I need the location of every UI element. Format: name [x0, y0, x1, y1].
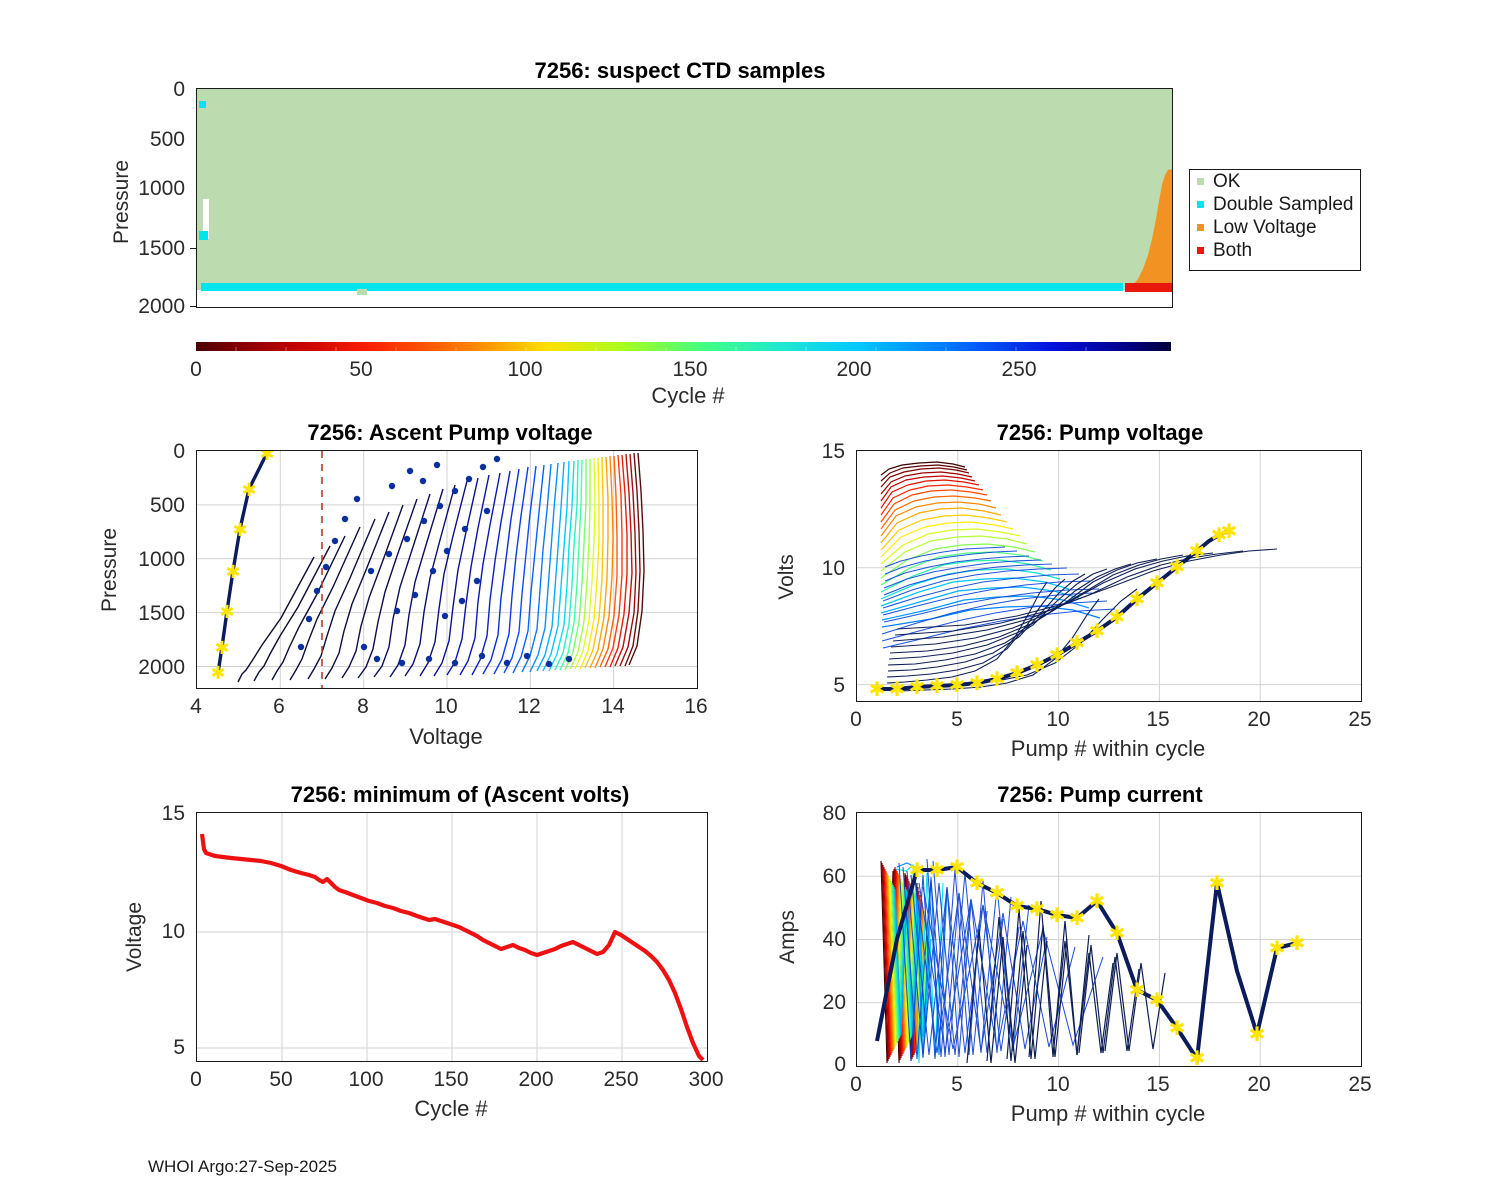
plot-area-suspect — [196, 88, 1173, 308]
minvolt-ytick-15: 15 — [130, 802, 185, 826]
svg-text:✱: ✱ — [241, 480, 256, 501]
ascent-xtick-12: 12 — [499, 695, 559, 719]
suspect-xlabel: Cycle # — [508, 383, 868, 409]
svg-text:✱: ✱ — [1209, 871, 1226, 895]
pumpcur-xtick-5: 5 — [927, 1073, 987, 1097]
ascent-ytick-0: 0 — [125, 440, 185, 464]
pumpvolt-xtick-25: 25 — [1330, 708, 1390, 732]
minvolt-xtick-100: 100 — [336, 1068, 396, 1092]
suspect-xtick-50: 50 — [331, 358, 391, 382]
pumpvolt-xtick-0: 0 — [826, 708, 886, 732]
svg-text:✱: ✱ — [869, 677, 886, 701]
svg-text:✱: ✱ — [225, 562, 240, 583]
minvolt-xtick-300: 300 — [676, 1068, 736, 1092]
svg-text:✱: ✱ — [219, 602, 234, 623]
legend-item-ok: OK — [1190, 170, 1360, 193]
ascent-xtick-14: 14 — [583, 695, 643, 719]
svg-text:✱: ✱ — [889, 677, 906, 701]
svg-text:✱: ✱ — [1069, 906, 1086, 930]
pumpcur-xtick-20: 20 — [1229, 1073, 1289, 1097]
svg-text:✱: ✱ — [1089, 619, 1106, 643]
svg-text:✱: ✱ — [1049, 903, 1066, 927]
ascent-xtick-6: 6 — [249, 695, 309, 719]
suspect-xtick-250: 250 — [989, 358, 1049, 382]
suspect-xtick-100: 100 — [495, 358, 555, 382]
svg-text:✱: ✱ — [1149, 571, 1166, 595]
svg-text:✱: ✱ — [1049, 643, 1066, 667]
ascent-xtick-10: 10 — [416, 695, 476, 719]
legend-marker-low-voltage — [1197, 224, 1204, 231]
ok-region — [197, 89, 1172, 290]
panel-title-pump-current: 7256: Pump current — [860, 782, 1340, 808]
minvolt-xtick-50: 50 — [251, 1068, 311, 1092]
svg-text:✱: ✱ — [1221, 519, 1238, 543]
plot-area-min-ascent-volts — [196, 812, 708, 1062]
legend-label-double-sampled: Double Sampled — [1213, 194, 1353, 216]
svg-text:✱: ✱ — [1029, 653, 1046, 677]
svg-text:✱: ✱ — [232, 520, 247, 541]
svg-text:✱: ✱ — [1129, 587, 1146, 611]
svg-text:✱: ✱ — [949, 673, 966, 697]
minvolt-xtick-0: 0 — [166, 1068, 226, 1092]
svg-text:✱: ✱ — [929, 858, 946, 882]
pumpcur-xtick-0: 0 — [826, 1073, 886, 1097]
svg-text:✱: ✱ — [1009, 661, 1026, 685]
ascent-xtick-16: 16 — [666, 695, 726, 719]
svg-text:✱: ✱ — [214, 638, 229, 659]
panel-title-ascent-pump-voltage: 7256: Ascent Pump voltage — [190, 420, 710, 446]
legend-item-both: Both — [1190, 239, 1360, 262]
svg-text:✱: ✱ — [1149, 988, 1166, 1012]
suspect-ytick-0: 0 — [125, 78, 185, 102]
cycle-colorbar-strip — [196, 340, 1171, 352]
pumpcur-xtick-10: 10 — [1028, 1073, 1088, 1097]
pumpvolt-ytick-5: 5 — [790, 674, 845, 698]
svg-text:✱: ✱ — [1029, 897, 1046, 921]
suspect-ytickmark-2000 — [190, 306, 196, 307]
svg-text:✱: ✱ — [1189, 1046, 1206, 1066]
legend-item-double-sampled: Double Sampled — [1190, 193, 1360, 216]
panel-title-min-ascent-volts: 7256: minimum of (Ascent volts) — [180, 782, 740, 808]
suspect-ytick-500: 500 — [125, 128, 185, 152]
minvolt-xtick-150: 150 — [421, 1068, 481, 1092]
svg-text:✱: ✱ — [1009, 894, 1026, 918]
svg-text:✱: ✱ — [1129, 978, 1146, 1002]
legend-item-low-voltage: Low Voltage — [1190, 216, 1360, 239]
svg-text:✱: ✱ — [210, 663, 225, 684]
pumpvolt-xtick-10: 10 — [1028, 708, 1088, 732]
svg-text:✱: ✱ — [929, 674, 946, 698]
suspect-xtick-150: 150 — [660, 358, 720, 382]
svg-text:✱: ✱ — [1169, 1016, 1186, 1040]
pumpvolt-xtick-5: 5 — [927, 708, 987, 732]
svg-text:✱: ✱ — [909, 858, 926, 882]
svg-text:✱: ✱ — [989, 881, 1006, 905]
svg-text:✱: ✱ — [1289, 931, 1306, 955]
ascent-ylabel: Pressure — [98, 490, 122, 650]
legend-label-low-voltage: Low Voltage — [1213, 217, 1317, 239]
suspect-ytickmark-1500 — [190, 248, 196, 249]
footer-credit: WHOI Argo:27-Sep-2025 — [148, 1157, 337, 1177]
minvolt-ytick-5: 5 — [130, 1036, 185, 1060]
pumpcur-xtick-15: 15 — [1128, 1073, 1188, 1097]
pumpcur-ylabel: Amps — [776, 867, 800, 1007]
ascent-xlabel: Voltage — [266, 724, 626, 750]
svg-text:✱: ✱ — [989, 667, 1006, 691]
pumpcur-xtick-25: 25 — [1330, 1073, 1390, 1097]
suspect-xtick-0: 0 — [166, 358, 226, 382]
pumpvolt-xtick-15: 15 — [1128, 708, 1188, 732]
minvolt-ylabel: Voltage — [123, 857, 147, 1017]
pumpvolt-ytick-15: 15 — [790, 440, 845, 464]
suspect-ylabel: Pressure — [110, 122, 134, 282]
minvolt-xtick-200: 200 — [506, 1068, 566, 1092]
svg-text:✱: ✱ — [969, 671, 986, 695]
ascent-ytick-2000: 2000 — [105, 656, 185, 680]
legend-label-ok: OK — [1213, 171, 1240, 193]
svg-text:✱: ✱ — [1269, 936, 1286, 960]
svg-text:✱: ✱ — [1189, 539, 1206, 563]
pumpvolt-xlabel: Pump # within cycle — [928, 736, 1288, 762]
svg-text:✱: ✱ — [1109, 921, 1126, 945]
legend-marker-ok — [1197, 178, 1204, 185]
ascent-ytick-500: 500 — [115, 494, 185, 518]
minvolt-xtick-250: 250 — [591, 1068, 651, 1092]
ascent-xtick-8: 8 — [333, 695, 393, 719]
minvolt-xlabel: Cycle # — [271, 1096, 631, 1122]
svg-text:✱: ✱ — [1069, 631, 1086, 655]
both-band — [1125, 283, 1172, 292]
panel-title-pump-voltage: 7256: Pump voltage — [860, 420, 1340, 446]
suspect-xtick-200: 200 — [824, 358, 884, 382]
svg-text:✱: ✱ — [1109, 605, 1126, 629]
pumpcur-ytick-80: 80 — [786, 802, 846, 826]
panel-title-suspect: 7256: suspect CTD samples — [190, 58, 1170, 84]
pumpvolt-ylabel: Volts — [775, 512, 799, 642]
pumpvolt-xtick-20: 20 — [1229, 708, 1289, 732]
legend-marker-both — [1197, 247, 1204, 254]
plot-area-pump-voltage: ✱✱✱ ✱✱✱ ✱✱✱ ✱✱✱ ✱✱✱ ✱✱✱ ✱ — [856, 450, 1362, 702]
plot-area-pump-current: ✱✱✱ ✱✱✱ ✱✱✱ ✱✱✱ ✱✱✱ ✱✱✱ ✱ — [856, 812, 1362, 1067]
svg-text:✱: ✱ — [259, 451, 274, 465]
legend-label-both: Both — [1213, 240, 1252, 262]
svg-text:✱: ✱ — [1169, 555, 1186, 579]
legend-marker-double-sampled — [1197, 201, 1204, 208]
svg-text:✱: ✱ — [949, 855, 966, 879]
plot-area-ascent-pump-voltage: ✱✱ ✱✱ ✱✱ ✱ — [196, 450, 698, 689]
svg-text:✱: ✱ — [909, 675, 926, 699]
svg-text:✱: ✱ — [969, 871, 986, 895]
suspect-ytick-2000: 2000 — [115, 295, 185, 319]
pumpcur-xlabel: Pump # within cycle — [928, 1101, 1288, 1127]
suspect-svg — [197, 89, 1172, 307]
legend-suspect: OK Double Sampled Low Voltage Both — [1189, 169, 1361, 271]
double-sampled-band — [201, 283, 1123, 291]
svg-text:✱: ✱ — [1249, 1022, 1266, 1046]
ascent-xtick-4: 4 — [166, 695, 226, 719]
svg-text:✱: ✱ — [1089, 889, 1106, 913]
